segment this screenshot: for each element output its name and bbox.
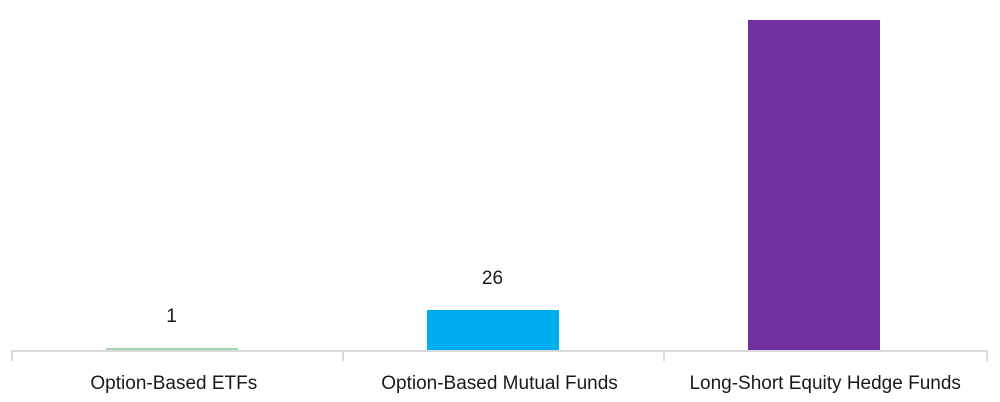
- x-axis-line: [11, 350, 988, 352]
- bar-option-based-mutual-funds[interactable]: [427, 310, 559, 350]
- x-axis-tick-2: [663, 350, 665, 361]
- x-axis-category-labels: Option-Based ETFs Option-Based Mutual Fu…: [11, 365, 988, 402]
- x-axis-label-option-based-mutual-funds: Option-Based Mutual Funds: [337, 365, 663, 402]
- bar-group-option-based-mutual-funds: 26: [332, 0, 653, 350]
- bar-value-label-option-based-mutual-funds: 26: [393, 269, 593, 288]
- bar-value-label-option-based-etfs: 1: [72, 307, 272, 326]
- x-axis-tick-start: [11, 350, 13, 361]
- x-axis-label-long-short-equity-hedge-funds: Long-Short Equity Hedge Funds: [662, 365, 988, 402]
- bar-long-short-equity-hedge-funds[interactable]: [748, 20, 880, 350]
- x-axis-label-option-based-etfs: Option-Based ETFs: [11, 365, 337, 402]
- bar-group-long-short-equity-hedge-funds: 215: [653, 0, 974, 350]
- bar-group-option-based-etfs: 1: [11, 0, 332, 350]
- x-axis-tick-1: [342, 350, 344, 361]
- plot-area: 1 26 215: [0, 0, 1000, 350]
- bar-chart: 1 26 215 Option-Based ETFs Option-Based …: [0, 0, 1000, 402]
- x-axis-tick-end: [986, 350, 988, 361]
